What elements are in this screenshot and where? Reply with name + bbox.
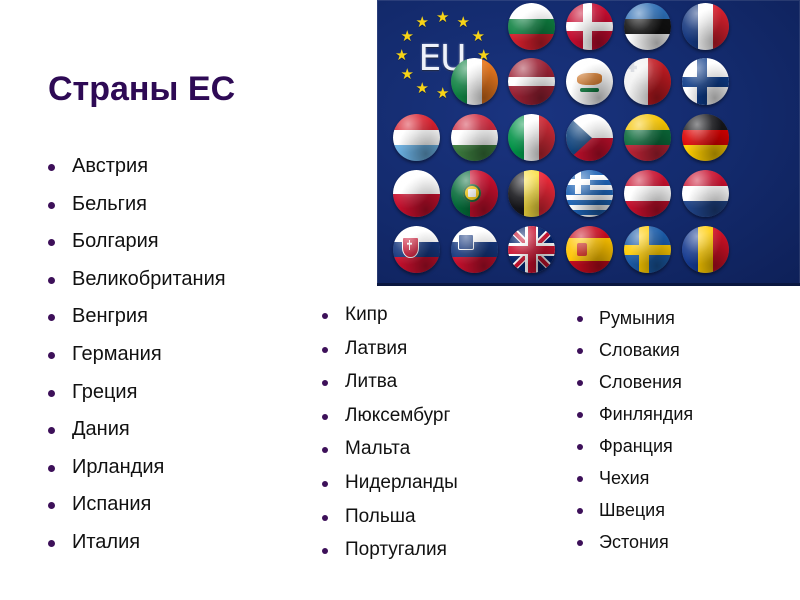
country-name: Словения [599, 366, 682, 398]
list-item: Испания [44, 486, 226, 524]
list-item: Финляндия [573, 398, 693, 430]
country-name: Ирландия [72, 449, 164, 487]
list-item: Латвия [318, 332, 458, 366]
country-name: Дания [72, 411, 130, 449]
country-name: Люксембург [345, 399, 450, 433]
bullet-dot-icon [322, 414, 328, 420]
bullet-dot-icon [322, 447, 328, 453]
bullet-dot-icon [577, 380, 583, 386]
list-item: Нидерланды [318, 466, 458, 500]
country-name: Бельгия [72, 186, 147, 224]
bullet-dot-icon [577, 348, 583, 354]
flag-greece-icon [566, 170, 613, 217]
country-name: Чехия [599, 462, 649, 494]
flag-slovakia-icon [393, 226, 440, 273]
bullet-dot-icon [48, 465, 55, 472]
country-name: Нидерланды [345, 466, 458, 500]
flag-spain-icon [566, 226, 613, 273]
bullet-dot-icon [322, 313, 328, 319]
country-name: Греция [72, 374, 137, 412]
bullet-dot-icon [48, 352, 55, 359]
list-item: Португалия [318, 533, 458, 567]
flag-luxembourg-icon [393, 114, 440, 161]
bullet-dot-icon [577, 316, 583, 322]
flag-czech-icon [566, 114, 613, 161]
flag-finland-icon [682, 58, 729, 105]
bullet-dot-icon [48, 390, 55, 397]
bullet-dot-icon [48, 239, 55, 246]
flag-france-icon [682, 3, 729, 50]
bullet-dot-icon [48, 314, 55, 321]
list-item: Бельгия [44, 186, 226, 224]
country-list-column-2: КипрЛатвияЛитваЛюксембургМальтаНидерланд… [318, 298, 458, 567]
flag-malta-icon [624, 58, 671, 105]
flag-hungary-icon [451, 114, 498, 161]
list-item: Венгрия [44, 298, 226, 336]
country-name: Швеция [599, 494, 665, 526]
flag-ireland-icon [451, 58, 498, 105]
list-item: Италия [44, 524, 226, 562]
flag-united-kingdom-icon [508, 226, 555, 273]
flag-belgium-icon [508, 170, 555, 217]
country-name: Венгрия [72, 298, 148, 336]
eu-flags-image: EU ★★★★★★★★★★★★ [377, 0, 800, 286]
list-item: Великобритания [44, 261, 226, 299]
bullet-dot-icon [48, 502, 55, 509]
list-item: Мальта [318, 432, 458, 466]
country-name: Болгария [72, 223, 159, 261]
list-item: Люксембург [318, 399, 458, 433]
bullet-dot-icon [48, 540, 55, 547]
country-name: Франция [599, 430, 673, 462]
flag-romania-icon [682, 226, 729, 273]
page-title: Страны ЕС [48, 70, 235, 109]
country-list-column-3: РумынияСловакияСловенияФинляндияФранцияЧ… [573, 302, 693, 558]
flag-bulgaria-icon [508, 3, 555, 50]
bullet-dot-icon [322, 380, 328, 386]
bullet-dot-icon [48, 164, 55, 171]
bullet-dot-icon [577, 540, 583, 546]
flag-lithuania-icon [624, 114, 671, 161]
list-item: Эстония [573, 526, 693, 558]
list-item: Швеция [573, 494, 693, 526]
bullet-dot-icon [577, 476, 583, 482]
country-name: Польша [345, 500, 416, 534]
flag-latvia-icon [508, 58, 555, 105]
list-item: Греция [44, 374, 226, 412]
bullet-dot-icon [577, 444, 583, 450]
bullet-dot-icon [322, 515, 328, 521]
flag-italy-icon [508, 114, 555, 161]
country-name: Германия [72, 336, 162, 374]
country-name: Мальта [345, 432, 410, 466]
list-item: Болгария [44, 223, 226, 261]
panel-bottom-border [377, 283, 800, 286]
bullet-dot-icon [48, 427, 55, 434]
list-item: Ирландия [44, 449, 226, 487]
flag-portugal-icon [451, 170, 498, 217]
country-name: Кипр [345, 298, 388, 332]
list-item: Польша [318, 500, 458, 534]
country-name: Словакия [599, 334, 680, 366]
bullet-dot-icon [48, 277, 55, 284]
list-item: Румыния [573, 302, 693, 334]
country-name: Литва [345, 365, 397, 399]
flag-slovenia-icon [451, 226, 498, 273]
list-item: Кипр [318, 298, 458, 332]
flag-germany-icon [682, 114, 729, 161]
list-item: Франция [573, 430, 693, 462]
list-item: Австрия [44, 148, 226, 186]
flag-poland-icon [393, 170, 440, 217]
list-item: Германия [44, 336, 226, 374]
flag-sweden-icon [624, 226, 671, 273]
country-list-column-1: АвстрияБельгияБолгарияВеликобританияВенг… [44, 148, 226, 562]
country-name: Австрия [72, 148, 148, 186]
country-name: Испания [72, 486, 151, 524]
flag-austria-icon [624, 170, 671, 217]
bullet-dot-icon [322, 347, 328, 353]
list-item: Чехия [573, 462, 693, 494]
flag-denmark-icon [566, 3, 613, 50]
flag-estonia-icon [624, 3, 671, 50]
country-name: Латвия [345, 332, 407, 366]
list-item: Литва [318, 365, 458, 399]
country-name: Великобритания [72, 261, 226, 299]
country-name: Португалия [345, 533, 447, 567]
list-item: Дания [44, 411, 226, 449]
country-name: Италия [72, 524, 140, 562]
bullet-dot-icon [322, 481, 328, 487]
flag-cyprus-icon [566, 58, 613, 105]
country-name: Эстония [599, 526, 669, 558]
list-item: Словения [573, 366, 693, 398]
country-name: Румыния [599, 302, 675, 334]
bullet-dot-icon [577, 508, 583, 514]
flag-netherlands-icon [682, 170, 729, 217]
list-item: Словакия [573, 334, 693, 366]
bullet-dot-icon [322, 548, 328, 554]
bullet-dot-icon [577, 412, 583, 418]
bullet-dot-icon [48, 202, 55, 209]
country-name: Финляндия [599, 398, 693, 430]
